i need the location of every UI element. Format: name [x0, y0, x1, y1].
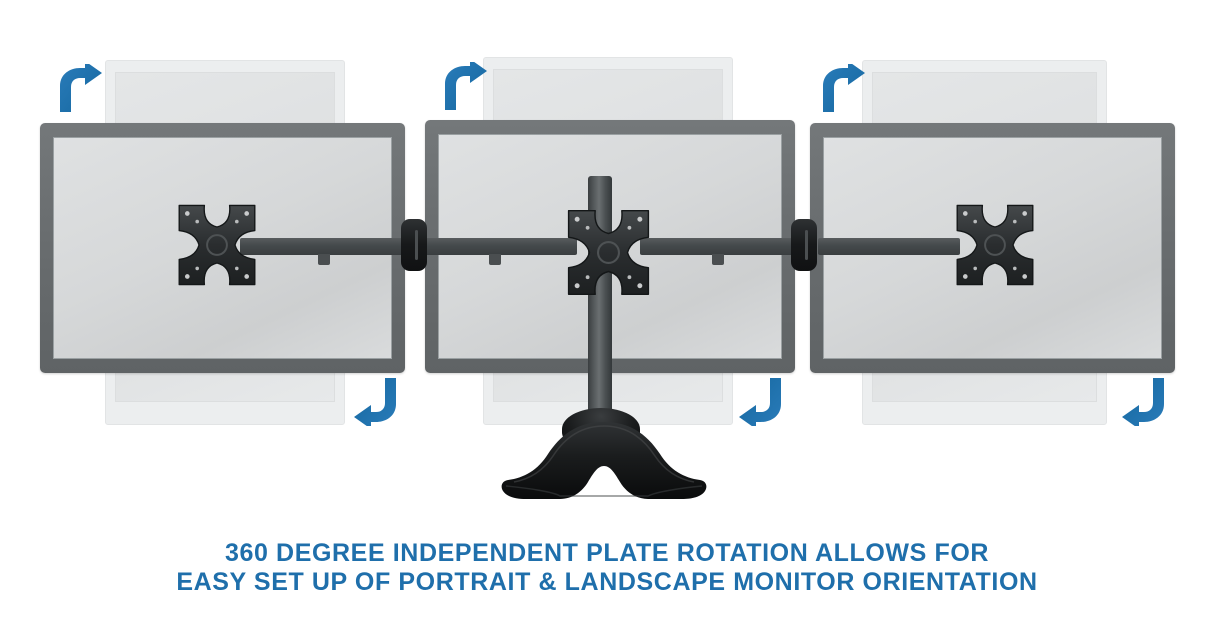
- rotation-arrow-bottom-center-icon: [737, 374, 789, 426]
- vesa-plate-right: [950, 200, 1040, 290]
- mount-arm-tab-center-left: [489, 254, 501, 265]
- mount-arm-center-right: [640, 238, 810, 255]
- pivot-joint-left: [401, 219, 427, 271]
- rotation-arrow-top-right-icon: [815, 64, 867, 116]
- vesa-plate-left: [172, 200, 262, 290]
- rotation-arrow-top-left-icon: [52, 64, 104, 116]
- mount-arm-tab-left: [318, 254, 330, 265]
- rotation-arrow-bottom-left-icon: [352, 374, 404, 426]
- infographic-canvas: 360 DEGREE INDEPENDENT PLATE ROTATION AL…: [0, 0, 1214, 644]
- stand-base-foot: [498, 420, 710, 502]
- mount-arm-left: [240, 238, 408, 255]
- pivot-joint-right: [791, 219, 817, 271]
- mount-arm-right: [818, 238, 960, 255]
- mount-arm-center-left: [425, 238, 577, 255]
- rotation-arrow-top-center-icon: [437, 62, 489, 114]
- vesa-plate-center: [561, 205, 656, 300]
- mount-arm-tab-center-right: [712, 254, 724, 265]
- caption-line-1: 360 DEGREE INDEPENDENT PLATE ROTATION AL…: [0, 539, 1214, 568]
- rotation-arrow-bottom-right-icon: [1120, 374, 1172, 426]
- caption-line-2: EASY SET UP OF PORTRAIT & LANDSCAPE MONI…: [0, 568, 1214, 597]
